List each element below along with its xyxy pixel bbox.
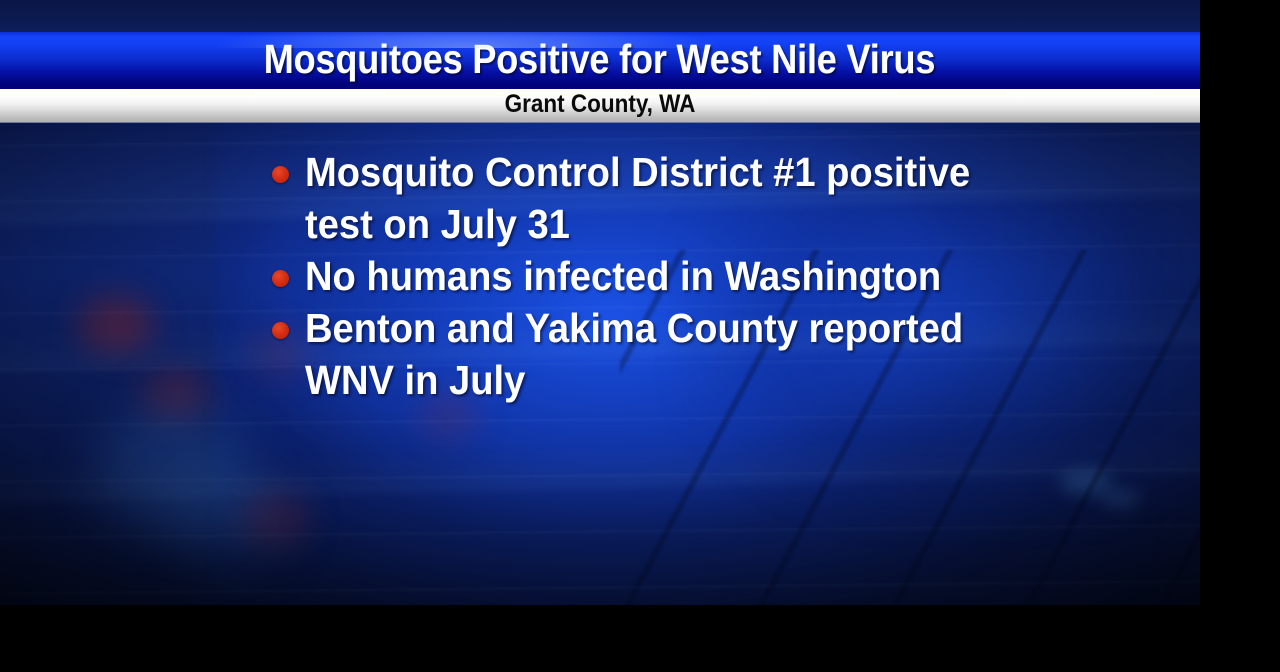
video-frame: Mosquitoes Positive for West Nile Virus … [0,0,1200,605]
list-item-label: No humans infected in Washington [305,250,941,302]
list-item: No humans infected in Washington [272,250,1032,302]
bullet-list: Mosquito Control District #1 positive te… [272,146,1032,406]
subtitle-bar: Grant County, WA [0,89,1200,123]
title-bar: Mosquitoes Positive for West Nile Virus [0,32,1200,89]
list-item-label: Benton and Yakima County reported WNV in… [305,302,981,406]
list-item-label: Mosquito Control District #1 positive te… [305,146,981,250]
list-item: Benton and Yakima County reported WNV in… [272,302,1032,406]
bullet-dot-icon [272,146,305,198]
list-item: Mosquito Control District #1 positive te… [272,146,1032,250]
news-graphic-screen: Mosquitoes Positive for West Nile Virus … [0,0,1280,672]
subtitle-location: Grant County, WA [505,92,696,119]
bullet-dot-icon [272,302,305,354]
bullet-dot-icon [272,250,305,302]
page-title: Mosquitoes Positive for West Nile Virus [264,39,935,82]
letterbox-right [1200,0,1280,672]
letterbox-bottom [0,605,1280,672]
header-top-strip [0,0,1200,32]
